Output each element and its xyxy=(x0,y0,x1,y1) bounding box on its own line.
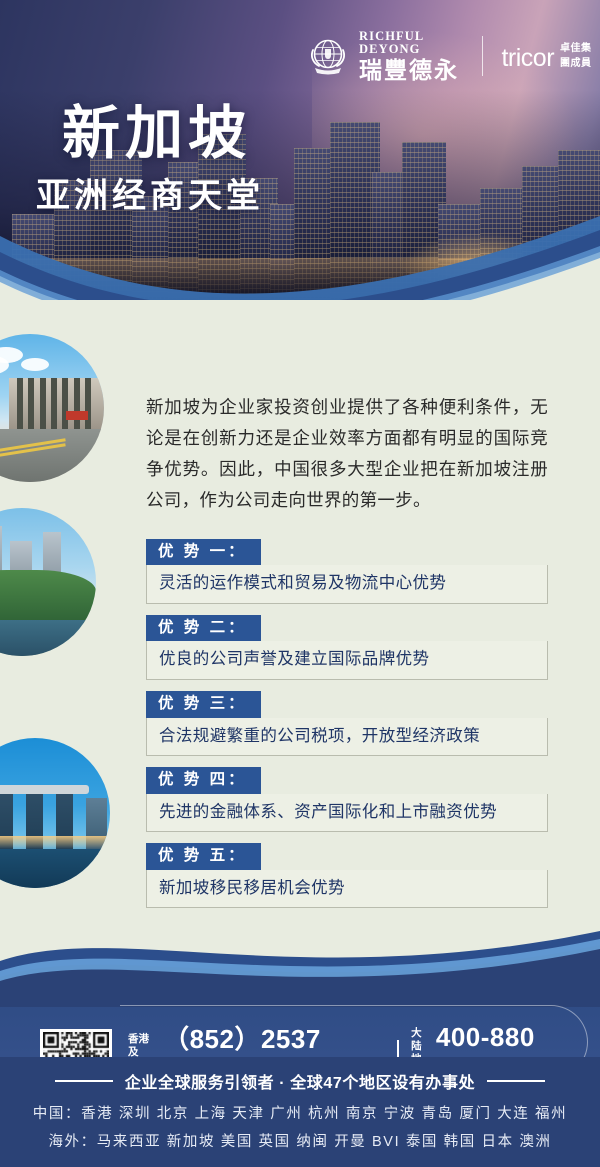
advantage-item-1: 优 势 一： 灵活的运作模式和贸易及物流中心优势 xyxy=(146,539,548,604)
advantage-badge: 优 势 一： xyxy=(146,539,261,566)
advantage-item-4: 优 势 四： 先进的金融体系、资产国际化和上市融资优势 xyxy=(146,767,548,832)
advantage-item-2: 优 势 二： 优良的公司声誉及建立国际品牌优势 xyxy=(146,615,548,680)
partner-logo: tricor 卓佳集團成員 xyxy=(501,39,600,73)
advantage-badge: 优 势 四： xyxy=(146,767,261,794)
footer-heading: 企业全球服务引领者 · 全球47个地区设有办事处 xyxy=(0,1069,600,1093)
poster-root: RICHFUL DEYONG 瑞豐德永 tricor 卓佳集團成員 新加坡 亚洲… xyxy=(0,0,600,1167)
advantage-text: 合法规避繁重的公司税项，开放型经济政策 xyxy=(146,718,548,756)
partner-name: tricor xyxy=(501,44,554,73)
advantage-text: 先进的金融体系、资产国际化和上市融资优势 xyxy=(146,794,548,832)
advantage-badge: 优 势 五： xyxy=(146,843,261,870)
footer-rule-left xyxy=(55,1080,113,1082)
overseas-label: 海外： xyxy=(48,1134,96,1150)
photo-shophouse-street xyxy=(0,334,104,482)
main-content: 新加坡为企业家投资创业提供了各种便利条件，无论是在创新力还是企业效率方面都有明显… xyxy=(146,392,548,919)
partner-chinese-name: 卓佳集團成員 xyxy=(560,39,600,73)
logo-chinese-name: 瑞豐德永 xyxy=(359,59,465,82)
intro-paragraph: 新加坡为企业家投资创业提供了各种便利条件，无论是在创新力还是企业效率方面都有明显… xyxy=(146,392,548,517)
advantage-text: 优良的公司声誉及建立国际品牌优势 xyxy=(146,641,548,679)
footer-title: 企业全球服务引领者 · 全球47个地区设有办事处 xyxy=(125,1069,475,1093)
logo-divider xyxy=(482,36,483,76)
footer: 企业全球服务引领者 · 全球47个地区设有办事处 中国：香港 深圳 北京 上海 … xyxy=(0,1057,600,1167)
china-offices-row: 中国：香港 深圳 北京 上海 天津 广州 杭州 南京 宁波 青岛 厦门 大连 福… xyxy=(0,1102,600,1123)
advantage-badge: 优 势 三： xyxy=(146,691,261,718)
advantage-badge: 优 势 二： xyxy=(146,615,261,642)
overseas-offices-row: 海外：马来西亚 新加坡 美国 英国 纳闽 开曼 BVI 泰国 韩国 日本 澳洲 xyxy=(0,1130,600,1151)
footer-rule-right xyxy=(487,1080,545,1082)
china-cities: 香港 深圳 北京 上海 天津 广州 杭州 南京 宁波 青岛 厦门 大连 福州 xyxy=(81,1106,567,1122)
logo-english-name: RICHFUL DEYONG xyxy=(359,30,465,55)
page-title: 新加坡 xyxy=(62,86,251,170)
photo-waterfront-greenery xyxy=(0,508,96,656)
photo-marina-bay-sands xyxy=(0,738,110,888)
china-label: 中国： xyxy=(33,1106,81,1122)
advantage-text: 新加坡移民移居机会优势 xyxy=(146,870,548,908)
advantage-item-3: 优 势 三： 合法规避繁重的公司税项，开放型经济政策 xyxy=(146,691,548,756)
advantage-text: 灵活的运作模式和贸易及物流中心优势 xyxy=(146,565,548,603)
brand-logo: RICHFUL DEYONG 瑞豐德永 tricor 卓佳集團成員 xyxy=(306,30,600,82)
overseas-cities: 马来西亚 新加坡 美国 英国 纳闽 开曼 BVI 泰国 韩国 日本 澳洲 xyxy=(97,1134,552,1150)
bottom-wave-decoration xyxy=(0,927,600,1007)
crest-emblem-icon xyxy=(306,34,350,78)
advantage-item-5: 优 势 五： 新加坡移民移居机会优势 xyxy=(146,843,548,908)
